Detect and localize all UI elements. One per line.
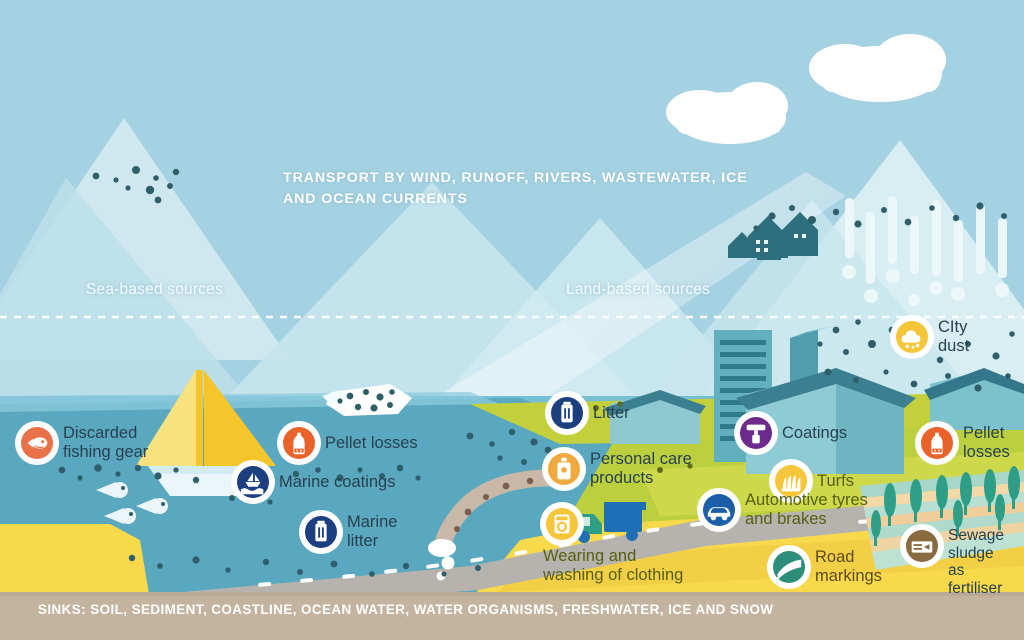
source-label-automotive-tyres-brakes: Automotive tyres and brakes: [745, 491, 868, 528]
paint-roller-icon-disc: [740, 417, 772, 449]
boat-waves-icon[interactable]: [234, 463, 272, 501]
source-marker-litter[interactable]: Litter: [548, 394, 630, 432]
source-marker-pellet-losses-sea[interactable]: Pellet losses: [280, 424, 418, 462]
source-marker-automotive-tyres-brakes[interactable]: Automotive tyres and brakes: [700, 491, 868, 529]
scene-background: [0, 0, 1024, 640]
road-icon[interactable]: [770, 548, 808, 586]
source-marker-sewage-sludge-fertiliser[interactable]: Sewage sludge as fertiliser: [903, 527, 1004, 597]
dust-cloud-icon[interactable]: [893, 318, 931, 356]
source-marker-road-markings[interactable]: Road markings: [770, 548, 882, 586]
zone-label-sea: Sea-based sources: [86, 281, 223, 299]
car-icon[interactable]: [700, 491, 738, 529]
source-label-pellet-losses-sea: Pellet losses: [325, 434, 418, 453]
source-label-sewage-sludge-fertiliser: Sewage sludge as fertiliser: [948, 527, 1004, 597]
paint-roller-icon[interactable]: [737, 414, 775, 452]
road-icon-disc: [773, 551, 805, 583]
beach-left: [0, 524, 150, 600]
source-marker-discarded-fishing-gear[interactable]: Discarded fishing gear: [18, 424, 148, 462]
source-label-coatings: Coatings: [782, 424, 847, 443]
litter-bin-icon-disc: [305, 516, 337, 548]
source-marker-pellet-losses-land[interactable]: Pellet losses: [918, 424, 1010, 462]
sinks-banner-shadow: [0, 592, 1024, 596]
pellet-bottle-icon[interactable]: [280, 424, 318, 462]
fish-icon-disc: [21, 427, 53, 459]
source-label-turfs: Turfs: [817, 472, 854, 491]
source-label-pellet-losses-land: Pellet losses: [963, 424, 1010, 461]
source-label-litter: Litter: [593, 404, 630, 423]
source-marker-personal-care-products[interactable]: Personal care products: [545, 450, 692, 488]
source-label-discarded-fishing-gear: Discarded fishing gear: [63, 424, 148, 461]
source-label-wearing-washing-clothing: Wearing and washing of clothing: [543, 547, 683, 584]
source-label-marine-litter: Marine litter: [347, 513, 397, 550]
sludge-field-icon-disc: [906, 530, 938, 562]
source-marker-marine-coatings[interactable]: Marine coatings: [234, 463, 395, 501]
source-marker-coatings[interactable]: Coatings: [737, 414, 847, 452]
source-label-marine-coatings: Marine coatings: [279, 473, 395, 492]
car-icon-disc: [703, 494, 735, 526]
pellet-bottle-icon[interactable]: [918, 424, 956, 462]
source-label-city-dust: CIty dust: [938, 318, 969, 355]
source-marker-city-dust[interactable]: CIty dust: [893, 318, 969, 356]
lotion-bottle-icon-disc: [548, 453, 580, 485]
sinks-banner-text: SINKS: SOIL, SEDIMENT, COASTLINE, OCEAN …: [38, 602, 773, 617]
source-marker-wearing-washing-clothing[interactable]: Wearing and washing of clothing: [543, 505, 683, 584]
source-label-road-markings: Road markings: [815, 548, 882, 585]
fish-icon[interactable]: [18, 424, 56, 462]
lotion-bottle-icon[interactable]: [545, 450, 583, 488]
boat-waves-icon-disc: [237, 466, 269, 498]
pellet-bottle-icon-disc: [921, 427, 953, 459]
litter-bin-icon-disc: [551, 397, 583, 429]
infographic-microplastics-sources: TRANSPORT BY WIND, RUNOFF, RIVERS, WASTE…: [0, 0, 1024, 640]
transport-banner-text: TRANSPORT BY WIND, RUNOFF, RIVERS, WASTE…: [283, 168, 753, 210]
washing-machine-icon-disc: [546, 508, 578, 540]
pellet-bottle-icon-disc: [283, 427, 315, 459]
litter-bin-icon[interactable]: [548, 394, 586, 432]
zone-label-land: Land-based sources: [566, 281, 710, 299]
dust-cloud-icon-disc: [896, 321, 928, 353]
source-marker-marine-litter[interactable]: Marine litter: [302, 513, 397, 551]
washing-machine-icon[interactable]: [543, 505, 581, 543]
source-label-personal-care-products: Personal care products: [590, 450, 692, 487]
litter-bin-icon[interactable]: [302, 513, 340, 551]
sludge-field-icon[interactable]: [903, 527, 941, 565]
